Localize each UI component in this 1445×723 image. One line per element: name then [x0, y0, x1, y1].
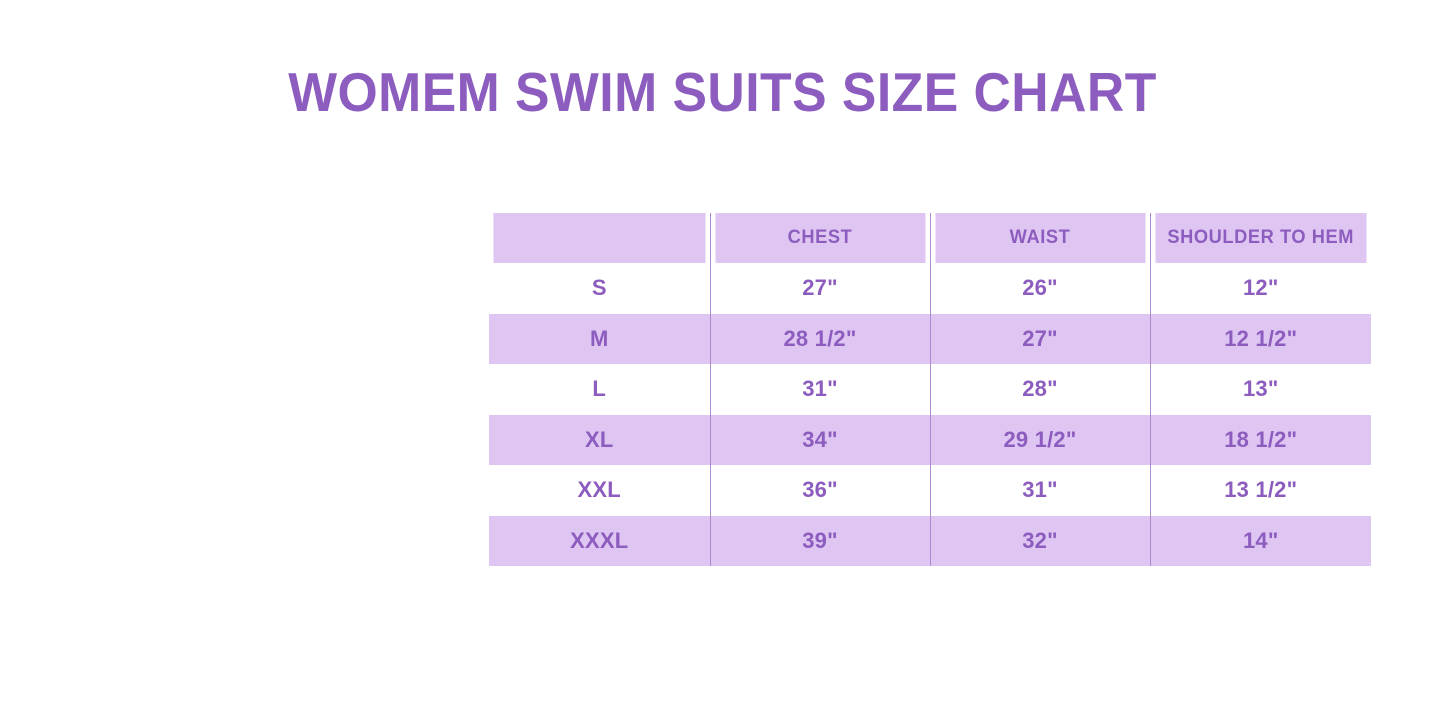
cell-size: S — [489, 263, 710, 314]
cell-size: XXL — [489, 465, 710, 516]
column-header-shoulder-to-hem: SHOULDER TO HEM — [1154, 213, 1366, 263]
cell-waist: 29 1/2" — [930, 415, 1150, 466]
cell-shoulder-to-hem: 13" — [1150, 364, 1371, 415]
cell-chest: 39" — [710, 516, 930, 567]
table-header: CHEST WAIST SHOULDER TO HEM — [489, 213, 1371, 263]
cell-waist: 28" — [930, 364, 1150, 415]
table-row: S 27" 26" 12" — [489, 263, 1371, 314]
table-row: M 28 1/2" 27" 12 1/2" — [489, 314, 1371, 365]
cell-shoulder-to-hem: 13 1/2" — [1150, 465, 1371, 516]
size-chart-table: CHEST WAIST SHOULDER TO HEM S 27" 26" 12… — [489, 213, 1371, 566]
cell-shoulder-to-hem: 14" — [1150, 516, 1371, 567]
table-header-row: CHEST WAIST SHOULDER TO HEM — [489, 213, 1371, 263]
size-chart-page: WOMEM SWIM SUITS SIZE CHART CHEST WAIST … — [0, 0, 1445, 723]
cell-waist: 26" — [930, 263, 1150, 314]
cell-waist: 31" — [930, 465, 1150, 516]
table-body: S 27" 26" 12" M 28 1/2" 27" 12 1/2" L 31… — [489, 263, 1371, 566]
cell-size: XXXL — [489, 516, 710, 567]
column-header-size — [493, 213, 705, 263]
cell-shoulder-to-hem: 18 1/2" — [1150, 415, 1371, 466]
cell-size: XL — [489, 415, 710, 466]
cell-chest: 36" — [710, 465, 930, 516]
column-header-chest: CHEST — [714, 213, 925, 263]
table-row: XXL 36" 31" 13 1/2" — [489, 465, 1371, 516]
cell-size: M — [489, 314, 710, 365]
cell-shoulder-to-hem: 12 1/2" — [1150, 314, 1371, 365]
cell-chest: 34" — [710, 415, 930, 466]
cell-chest: 28 1/2" — [710, 314, 930, 365]
column-header-waist: WAIST — [934, 213, 1145, 263]
table-row: XXXL 39" 32" 14" — [489, 516, 1371, 567]
table-row: XL 34" 29 1/2" 18 1/2" — [489, 415, 1371, 466]
cell-shoulder-to-hem: 12" — [1150, 263, 1371, 314]
size-chart-table-container: CHEST WAIST SHOULDER TO HEM S 27" 26" 12… — [489, 213, 1371, 566]
cell-waist: 32" — [930, 516, 1150, 567]
cell-waist: 27" — [930, 314, 1150, 365]
cell-chest: 31" — [710, 364, 930, 415]
cell-size: L — [489, 364, 710, 415]
cell-chest: 27" — [710, 263, 930, 314]
table-row: L 31" 28" 13" — [489, 364, 1371, 415]
page-title: WOMEM SWIM SUITS SIZE CHART — [43, 57, 1401, 127]
